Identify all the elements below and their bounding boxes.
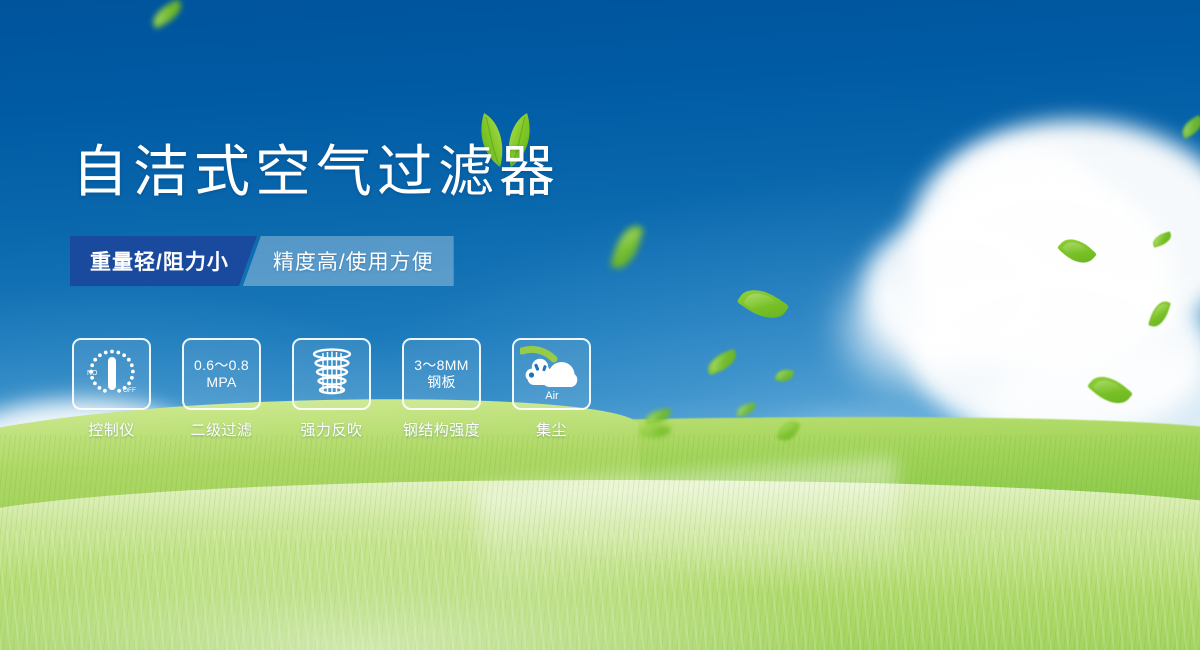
feature-label: 控制仪 <box>72 419 151 440</box>
svg-text:OFF: OFF <box>123 387 136 394</box>
feature-item-control-instrument[interactable]: NO OFF 控制仪 <box>72 338 151 440</box>
feature-list: NO OFF 控制仪 0.6～0.8 MPA 二级过滤 <box>72 338 591 440</box>
grass-sheen <box>0 500 1200 650</box>
filter-cartridge-icon <box>309 346 355 402</box>
feature-icon-box: 0.6～0.8 MPA <box>182 338 261 410</box>
svg-text:NO: NO <box>87 370 98 377</box>
dial-switch-icon: NO OFF <box>81 346 143 402</box>
feature-label: 强力反吹 <box>292 419 371 440</box>
pressure-value-line1: 0.6～0.8 <box>194 357 249 375</box>
product-hero-banner: 自洁式空气过滤器 重量轻/阻力小 精度高/使用方便 <box>0 0 1200 650</box>
tagline-secondary: 精度高/使用方便 <box>243 236 454 286</box>
grass-field <box>0 410 1200 650</box>
feature-icon-box: Air <box>512 338 591 410</box>
feature-item-two-stage-filtration[interactable]: 0.6～0.8 MPA 二级过滤 <box>182 338 261 440</box>
pressure-value-line2: MPA <box>206 374 236 392</box>
feature-item-dust-collection[interactable]: Air 集尘 <box>512 338 591 440</box>
feature-icon-box: 3～8MM 钢板 <box>402 338 481 410</box>
tagline-primary: 重量轻/阻力小 <box>70 236 257 286</box>
cloud-air-icon: Air <box>520 345 584 403</box>
feature-label: 二级过滤 <box>182 419 261 440</box>
feature-label: 钢结构强度 <box>402 419 481 440</box>
feature-icon-box <box>292 338 371 410</box>
feature-label: 集尘 <box>512 419 591 440</box>
cloud-air-label: Air <box>545 390 559 402</box>
feature-item-steel-structure-strength[interactable]: 3～8MM 钢板 钢结构强度 <box>402 338 481 440</box>
page-title: 自洁式空气过滤器 <box>72 144 560 200</box>
steel-plate-line2: 钢板 <box>427 374 456 392</box>
tagline-bar: 重量轻/阻力小 精度高/使用方便 <box>70 236 454 286</box>
steel-plate-line1: 3～8MM <box>414 357 468 375</box>
feature-icon-box: NO OFF <box>72 338 151 410</box>
feature-item-strong-back-blow[interactable]: 强力反吹 <box>292 338 371 440</box>
